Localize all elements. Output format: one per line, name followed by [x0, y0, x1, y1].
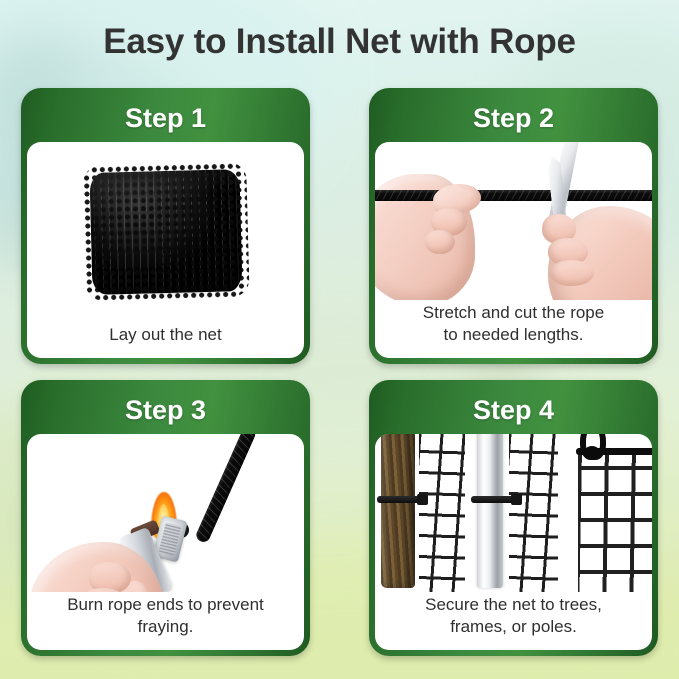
net-mesh-icon: [578, 448, 652, 592]
step-2-caption: Stretch and cut the rope to needed lengt…: [375, 300, 652, 358]
step-card-3: Step 3 Burn rope ends to prevent fraying…: [21, 380, 310, 656]
mounting-examples-row: [375, 434, 652, 592]
step-3-header: Step 3: [27, 386, 304, 434]
steps-grid: Step 1 Lay out the net Step 2: [21, 88, 658, 656]
zip-tie-icon: [377, 496, 423, 503]
metal-pole-icon: [477, 434, 503, 588]
step-1-header: Step 1: [27, 94, 304, 142]
step-3-caption: Burn rope ends to prevent fraying.: [27, 592, 304, 650]
step-1-panel: Lay out the net: [27, 142, 304, 358]
step-2-header: Step 2: [375, 94, 652, 142]
right-finger-icon: [550, 260, 594, 286]
mount-to-pole-cell: [465, 434, 559, 592]
net-mesh-icon: [509, 434, 559, 592]
net-mesh-icon: [419, 434, 465, 592]
step-3-panel: Burn rope ends to prevent fraying.: [27, 434, 304, 650]
net-corner-loop-cell: [558, 434, 652, 592]
step-4-header: Step 4: [375, 386, 652, 434]
step-card-1: Step 1 Lay out the net: [21, 88, 310, 364]
step-4-panel: Secure the net to trees, frames, or pole…: [375, 434, 652, 650]
zip-tie-icon: [471, 496, 517, 503]
rope-end-icon: [194, 434, 257, 544]
step-card-2: Step 2: [369, 88, 658, 364]
step-1-caption: Lay out the net: [27, 322, 304, 358]
folded-net-icon: [89, 169, 242, 295]
step-1-illustration: [27, 142, 304, 322]
finger-icon: [89, 562, 131, 592]
step-card-4: Step 4: [369, 380, 658, 656]
mount-to-tree-cell: [375, 434, 465, 592]
page-title: Easy to Install Net with Rope: [0, 22, 679, 62]
step-2-illustration: [375, 142, 652, 300]
net-installation-infographic: Easy to Install Net with Rope Step 1 Lay…: [0, 0, 679, 679]
step-2-panel: Stretch and cut the rope to needed lengt…: [375, 142, 652, 358]
rope-strand-icon: [375, 190, 652, 201]
step-4-caption: Secure the net to trees, frames, or pole…: [375, 592, 652, 650]
tree-trunk-icon: [381, 434, 415, 588]
step-3-illustration: [27, 434, 304, 592]
step-4-illustration: [375, 434, 652, 592]
left-finger-icon: [425, 230, 455, 254]
